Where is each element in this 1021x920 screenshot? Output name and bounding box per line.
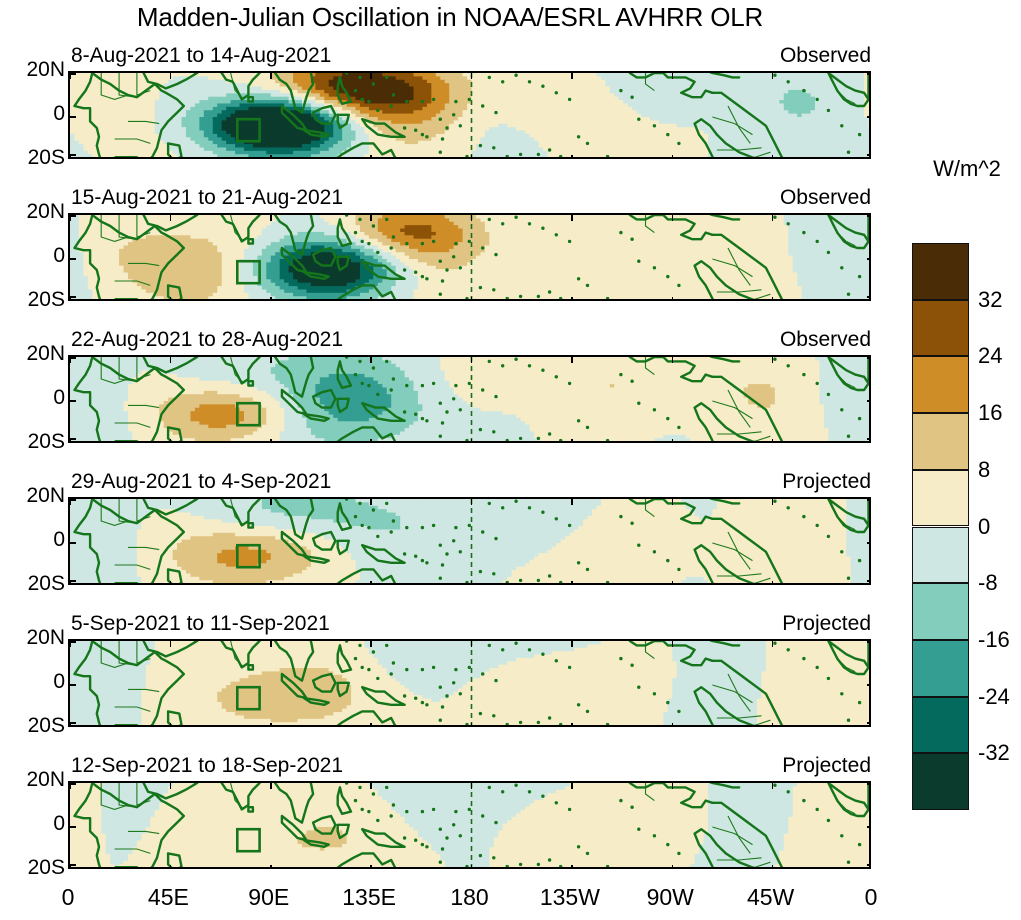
island-marker: [619, 89, 622, 92]
panel-date-range: 5-Sep-2021 to 11-Sep-2021: [71, 612, 330, 636]
y-axis-label: 20S: [0, 714, 65, 738]
island-marker: [459, 124, 462, 127]
island-marker: [421, 417, 424, 420]
island-marker: [390, 530, 393, 533]
island-marker: [452, 255, 455, 258]
island-marker: [619, 657, 622, 660]
x-tick: [571, 641, 573, 647]
island-marker: [392, 661, 395, 664]
island-marker: [506, 723, 509, 726]
island-marker: [666, 417, 669, 420]
island-marker: [481, 672, 484, 675]
island-marker: [802, 799, 805, 802]
island-marker: [385, 644, 388, 647]
x-tick: [270, 581, 272, 585]
island-marker: [492, 572, 495, 575]
island-marker: [586, 142, 589, 145]
x-axis: 045E90E135E180135W90W45W0: [68, 884, 871, 914]
island-marker: [492, 714, 495, 717]
island-marker: [501, 648, 504, 651]
x-tick: [170, 439, 172, 443]
island-marker: [537, 437, 540, 440]
island-marker: [858, 843, 861, 846]
island-marker: [494, 821, 497, 824]
island-marker: [465, 723, 468, 726]
island-marker: [390, 672, 393, 675]
island-marker: [468, 666, 471, 669]
island-marker: [528, 648, 531, 651]
island-marker: [421, 100, 424, 103]
map-plot-area: [68, 71, 871, 159]
colorbar-band: [912, 640, 969, 697]
island-marker: [847, 293, 850, 296]
island-marker: [677, 426, 680, 429]
x-tick: [571, 581, 573, 585]
island-marker: [492, 146, 495, 149]
x-tick: [672, 155, 674, 159]
map-plot-area: [68, 355, 871, 443]
x-tick: [170, 641, 172, 647]
x-tick: [270, 723, 272, 727]
colorbar-tick-label: -16: [978, 627, 1010, 653]
island-marker: [385, 360, 388, 363]
island-marker: [441, 421, 444, 424]
island-marker: [653, 834, 656, 837]
island-marker: [403, 694, 406, 697]
island-marker: [506, 865, 509, 868]
y-axis-label: 0: [0, 102, 65, 126]
x-axis-label: 45E: [128, 884, 208, 911]
island-marker: [372, 366, 375, 369]
island-marker: [452, 397, 455, 400]
island-marker: [372, 792, 375, 795]
map-panel: 15-Aug-2021 to 21-Aug-2021Observed20N020…: [68, 213, 871, 301]
figure-title: Madden-Julian Oscillation in NOAA/ESRL A…: [0, 2, 900, 33]
island-marker: [559, 865, 562, 868]
island-marker: [840, 692, 843, 695]
island-marker: [372, 82, 375, 85]
y-tick: [70, 722, 76, 724]
panel-date-range: 22-Aug-2021 to 28-Aug-2021: [71, 328, 343, 352]
island-marker: [445, 268, 448, 271]
island-marker: [441, 279, 444, 282]
island-marker: [559, 155, 562, 158]
island-marker: [405, 100, 408, 103]
x-tick: [571, 357, 573, 363]
island-marker: [468, 808, 471, 811]
island-marker: [506, 581, 509, 584]
olr-anomaly-map: [70, 357, 871, 443]
x-axis-label: 180: [430, 884, 510, 911]
island-marker: [403, 552, 406, 555]
x-tick: [170, 783, 172, 789]
island-marker: [677, 568, 680, 571]
island-marker: [376, 393, 379, 396]
x-tick: [672, 865, 674, 869]
island-marker: [354, 231, 357, 234]
island-marker: [445, 552, 448, 555]
panel-status-label: Observed: [780, 328, 871, 352]
island-marker: [468, 382, 471, 385]
island-marker: [537, 863, 540, 866]
colorbar-tick-label: -24: [978, 684, 1010, 710]
x-tick: [471, 499, 473, 505]
island-marker: [630, 522, 633, 525]
island-marker: [465, 297, 468, 300]
island-marker: [376, 109, 379, 112]
x-tick: [571, 783, 573, 789]
island-marker: [354, 373, 357, 376]
y-axis-label: 0: [0, 244, 65, 268]
island-marker: [439, 293, 442, 296]
island-marker: [421, 559, 424, 562]
island-marker: [840, 266, 843, 269]
island-marker: [425, 135, 428, 138]
colorbar-band: [912, 413, 969, 470]
island-marker: [637, 686, 640, 689]
island-marker: [432, 808, 435, 811]
island-marker: [501, 80, 504, 83]
island-marker: [630, 380, 633, 383]
island-marker: [481, 530, 484, 533]
island-marker: [454, 242, 457, 245]
island-marker: [358, 76, 361, 79]
y-axis-label: 0: [0, 386, 65, 410]
x-tick: [170, 865, 172, 869]
island-marker: [376, 251, 379, 254]
map-plot-area: [68, 781, 871, 869]
x-tick: [170, 723, 172, 727]
island-marker: [492, 430, 495, 433]
island-marker: [738, 867, 741, 869]
x-tick: [370, 499, 372, 505]
island-marker: [827, 109, 830, 112]
island-marker: [421, 242, 424, 245]
island-marker: [847, 577, 850, 580]
island-marker: [358, 360, 361, 363]
x-axis-label: 45W: [731, 884, 811, 911]
island-marker: [414, 555, 417, 558]
island-marker: [568, 382, 571, 385]
colorbar-band: [912, 470, 969, 527]
olr-anomaly-map: [70, 73, 871, 159]
island-marker: [637, 118, 640, 121]
island-marker: [514, 784, 517, 787]
y-tick: [70, 438, 76, 440]
island-marker: [494, 111, 497, 114]
colorbar-tick-label: 16: [978, 400, 1002, 426]
island-marker: [827, 535, 830, 538]
island-marker: [445, 694, 448, 697]
y-tick: [867, 357, 871, 359]
island-marker: [541, 511, 544, 514]
y-tick: [867, 499, 871, 501]
coastline: [869, 357, 872, 388]
island-marker: [568, 808, 571, 811]
x-tick: [270, 215, 272, 221]
island-marker: [405, 810, 408, 813]
x-tick: [471, 581, 473, 585]
island-marker: [568, 240, 571, 243]
map-plot-area: [68, 639, 871, 727]
colorbar-band: [912, 753, 969, 810]
island-marker: [555, 517, 558, 520]
island-marker: [465, 439, 468, 442]
x-tick: [772, 155, 774, 159]
y-tick: [70, 826, 76, 828]
island-marker: [414, 413, 417, 416]
island-marker: [653, 408, 656, 411]
island-marker: [802, 231, 805, 234]
x-tick: [471, 865, 473, 869]
island-marker: [421, 701, 424, 704]
island-marker: [773, 74, 776, 77]
island-marker: [586, 852, 589, 855]
island-marker: [541, 227, 544, 230]
x-tick: [370, 641, 372, 647]
island-marker: [421, 668, 424, 671]
island-marker: [568, 524, 571, 527]
island-marker: [528, 222, 531, 225]
island-marker: [506, 439, 509, 442]
x-tick: [471, 297, 473, 301]
x-tick: [370, 215, 372, 221]
island-marker: [555, 91, 558, 94]
island-marker: [519, 437, 522, 440]
island-marker: [421, 384, 424, 387]
island-marker: [421, 275, 424, 278]
island-marker: [514, 500, 517, 503]
island-marker: [677, 284, 680, 287]
island-marker: [432, 240, 435, 243]
x-tick: [672, 297, 674, 301]
island-marker: [439, 260, 442, 263]
island-marker: [787, 506, 790, 509]
island-marker: [367, 668, 370, 671]
x-tick: [170, 581, 172, 585]
island-marker: [372, 650, 375, 653]
y-tick: [70, 400, 76, 402]
x-tick: [270, 73, 272, 79]
x-tick: [571, 155, 573, 159]
island-marker: [606, 439, 609, 442]
island-marker: [816, 240, 819, 243]
island-marker: [528, 364, 531, 367]
x-axis-label: 135E: [329, 884, 409, 911]
x-tick: [772, 723, 774, 727]
x-tick: [370, 357, 372, 363]
island-marker: [454, 526, 457, 529]
y-axis-label: 0: [0, 528, 65, 552]
colorbar-tick-label: 32: [978, 287, 1002, 313]
island-marker: [738, 299, 741, 301]
island-marker: [488, 360, 491, 363]
island-marker: [559, 581, 562, 584]
island-marker: [666, 843, 669, 846]
island-marker: [452, 113, 455, 116]
island-marker: [372, 508, 375, 511]
map-panel: 8-Aug-2021 to 14-Aug-2021Observed20N020S: [68, 71, 871, 159]
island-marker: [548, 148, 551, 151]
island-marker: [439, 577, 442, 580]
x-tick: [270, 499, 272, 505]
island-marker: [847, 719, 850, 722]
panel-status-label: Projected: [782, 612, 871, 636]
y-axis-label: 20N: [0, 342, 65, 366]
panel-date-range: 12-Sep-2021 to 18-Sep-2021: [71, 754, 343, 778]
island-marker: [459, 834, 462, 837]
island-marker: [392, 803, 395, 806]
island-marker: [677, 142, 680, 145]
island-marker: [541, 369, 544, 372]
map-plot-area: [68, 497, 871, 585]
panel-date-range: 8-Aug-2021 to 14-Aug-2021: [71, 44, 331, 68]
island-marker: [738, 157, 741, 159]
x-tick: [370, 865, 372, 869]
island-marker: [802, 657, 805, 660]
panel-date-range: 15-Aug-2021 to 21-Aug-2021: [71, 186, 343, 210]
island-marker: [787, 80, 790, 83]
island-marker: [559, 439, 562, 442]
colorbar: 32241680-8-16-24-32: [912, 243, 969, 810]
island-marker: [445, 410, 448, 413]
island-marker: [577, 703, 580, 706]
island-marker: [452, 681, 455, 684]
island-marker: [653, 550, 656, 553]
island-marker: [514, 74, 517, 77]
island-marker: [586, 568, 589, 571]
island-marker: [787, 364, 790, 367]
y-tick: [867, 722, 871, 724]
y-tick: [70, 296, 76, 298]
y-tick: [70, 684, 76, 686]
island-marker: [439, 544, 442, 547]
y-tick: [70, 357, 76, 359]
island-marker: [840, 408, 843, 411]
y-axis-label: 20N: [0, 768, 65, 792]
colorbar-tick-label: 24: [978, 343, 1002, 369]
island-marker: [390, 246, 393, 249]
coastline: [869, 73, 872, 104]
island-marker: [392, 519, 395, 522]
island-marker: [858, 133, 861, 136]
y-tick: [867, 864, 871, 866]
island-marker: [361, 524, 364, 527]
island-marker: [537, 721, 540, 724]
island-marker: [361, 382, 364, 385]
island-marker: [481, 104, 484, 107]
y-tick: [867, 400, 871, 402]
colorbar-tick-label: -32: [978, 740, 1010, 766]
y-tick: [70, 499, 76, 501]
x-tick: [571, 215, 573, 221]
island-marker: [528, 506, 531, 509]
island-marker: [630, 238, 633, 241]
x-tick: [471, 783, 473, 789]
x-tick: [571, 499, 573, 505]
y-axis-label: 0: [0, 812, 65, 836]
island-marker: [827, 393, 830, 396]
olr-anomaly-map: [70, 783, 871, 869]
coastline: [869, 641, 872, 672]
island-marker: [392, 377, 395, 380]
island-marker: [858, 701, 861, 704]
island-marker: [459, 692, 462, 695]
coastline: [869, 215, 872, 246]
island-marker: [501, 222, 504, 225]
x-tick: [772, 641, 774, 647]
island-marker: [441, 137, 444, 140]
island-marker: [390, 388, 393, 391]
x-tick: [672, 581, 674, 585]
island-marker: [653, 124, 656, 127]
island-marker: [559, 723, 562, 726]
island-marker: [816, 524, 819, 527]
y-tick: [867, 684, 871, 686]
island-marker: [358, 502, 361, 505]
island-marker: [548, 290, 551, 293]
y-tick: [867, 116, 871, 118]
x-tick: [370, 783, 372, 789]
island-marker: [354, 89, 357, 92]
island-marker: [506, 155, 509, 158]
island-marker: [858, 559, 861, 562]
colorbar-unit-label: W/m^2: [912, 156, 1021, 182]
x-tick: [772, 297, 774, 301]
island-marker: [459, 408, 462, 411]
island-marker: [468, 240, 471, 243]
colorbar-tick-label: 8: [978, 457, 990, 483]
island-marker: [827, 251, 830, 254]
x-tick: [170, 357, 172, 363]
island-marker: [403, 268, 406, 271]
island-marker: [405, 384, 408, 387]
island-marker: [354, 657, 357, 660]
island-marker: [738, 583, 741, 585]
island-marker: [858, 417, 861, 420]
island-marker: [606, 155, 609, 158]
island-marker: [465, 155, 468, 158]
island-marker: [425, 419, 428, 422]
y-tick: [867, 783, 871, 785]
y-tick: [867, 641, 871, 643]
island-marker: [787, 222, 790, 225]
island-marker: [425, 703, 428, 706]
y-tick: [867, 73, 871, 75]
x-tick: [370, 439, 372, 443]
panel-date-range: 29-Aug-2021 to 4-Sep-2021: [71, 470, 331, 494]
island-marker: [414, 129, 417, 132]
island-marker: [637, 402, 640, 405]
island-marker: [385, 786, 388, 789]
island-marker: [488, 644, 491, 647]
island-marker: [537, 153, 540, 156]
island-marker: [481, 388, 484, 391]
island-marker: [494, 253, 497, 256]
island-marker: [666, 559, 669, 562]
island-marker: [488, 218, 491, 221]
island-marker: [425, 277, 428, 280]
island-marker: [405, 526, 408, 529]
island-marker: [432, 382, 435, 385]
y-axis-label: 20N: [0, 484, 65, 508]
island-marker: [465, 865, 468, 868]
island-marker: [441, 563, 444, 566]
island-marker: [653, 266, 656, 269]
island-marker: [390, 814, 393, 817]
x-tick: [471, 215, 473, 221]
island-marker: [354, 799, 357, 802]
